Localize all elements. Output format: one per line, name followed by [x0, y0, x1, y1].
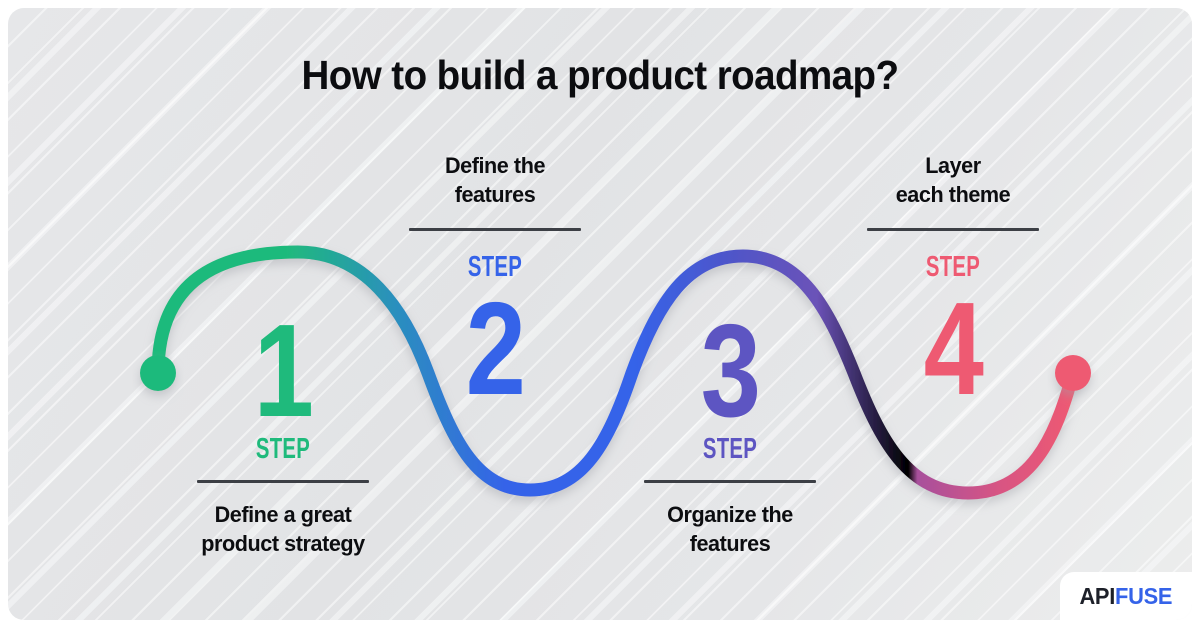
- apifuse-logo[interactable]: APIFUSE: [1060, 572, 1192, 620]
- infographic-board: How to build a product roadmap?: [8, 8, 1192, 620]
- step-4-description: Layer each theme: [833, 151, 1073, 209]
- step-1-number: 1: [181, 308, 386, 433]
- logo-fuse-text: FUSE: [1115, 583, 1172, 609]
- step-3-description-line1: Organize the: [610, 500, 850, 529]
- step-3[interactable]: 3 STEP Organize the features: [605, 308, 855, 558]
- step-4-number: 4: [851, 286, 1056, 411]
- step-2-description: Define the features: [375, 151, 615, 209]
- step-1-divider: [197, 480, 369, 483]
- step-2-description-line1: Define the: [375, 151, 615, 180]
- step-1-description: Define a great product strategy: [163, 500, 403, 558]
- step-4-divider: [867, 228, 1039, 231]
- step-3-number: 3: [628, 308, 833, 433]
- step-2-description-line2: features: [375, 180, 615, 209]
- step-4-description-line2: each theme: [833, 180, 1073, 209]
- step-2[interactable]: Define the features STEP 2: [370, 151, 620, 411]
- step-3-description-line2: features: [610, 529, 850, 558]
- page-title: How to build a product roadmap?: [44, 52, 1157, 99]
- step-3-description: Organize the features: [610, 500, 850, 558]
- step-1-description-line2: product strategy: [163, 529, 403, 558]
- step-1-label: STEP: [196, 435, 371, 464]
- step-3-divider: [644, 480, 816, 483]
- step-1-description-line1: Define a great: [163, 500, 403, 529]
- logo-wordmark: APIFUSE: [1080, 583, 1173, 610]
- logo-api-text: API: [1080, 583, 1116, 609]
- step-2-number: 2: [393, 286, 598, 411]
- step-3-label: STEP: [643, 435, 818, 464]
- step-2-divider: [409, 228, 581, 231]
- step-4-description-line1: Layer: [833, 151, 1073, 180]
- infographic-canvas: How to build a product roadmap?: [0, 0, 1200, 628]
- step-4[interactable]: Layer each theme STEP 4: [828, 151, 1078, 411]
